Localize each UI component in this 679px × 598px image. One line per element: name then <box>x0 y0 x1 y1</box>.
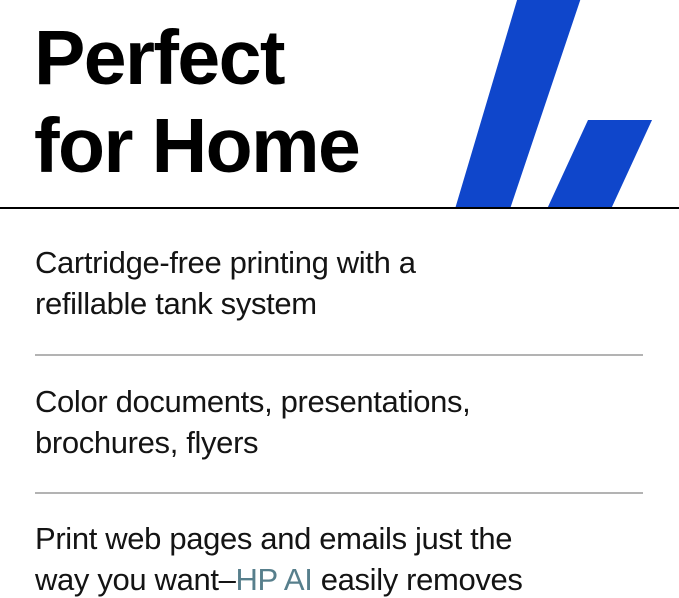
feature-text-color-documents: Color documents, presentations, brochure… <box>35 381 643 463</box>
header-divider <box>0 207 679 209</box>
hp-ai-highlight: HP AI <box>236 562 313 597</box>
hero-section: Perfect for Home <box>0 0 679 209</box>
feature-text-cartridge-free-printing: Cartridge-free printing with a refillabl… <box>35 242 643 324</box>
feature-text-print-web-pages: Print web pages and emails just the way … <box>35 518 643 598</box>
product-feature-card: Perfect for Home Cartridge-free printing… <box>0 0 679 598</box>
feature-list: Cartridge-free printing with a refillabl… <box>0 210 679 598</box>
list-item: Color documents, presentations, brochure… <box>0 356 679 463</box>
list-item: Print web pages and emails just the way … <box>0 494 679 598</box>
page-title: Perfect for Home <box>34 14 359 190</box>
list-item: Cartridge-free printing with a refillabl… <box>0 210 679 324</box>
hp-logo-icon <box>430 0 679 209</box>
